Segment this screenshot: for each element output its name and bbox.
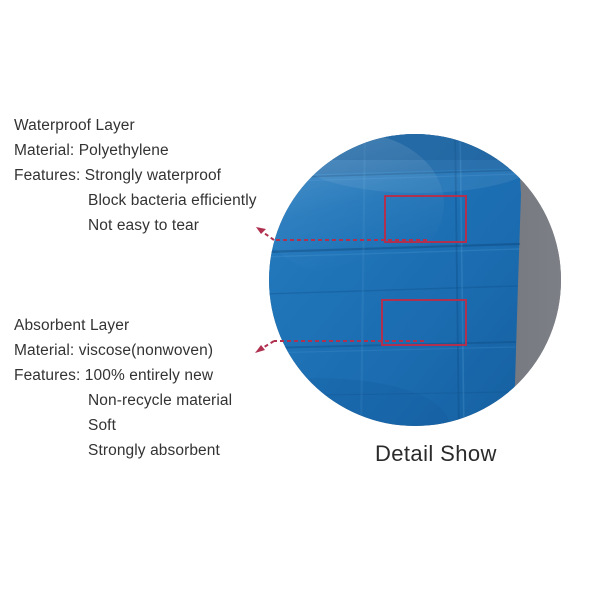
detail-show-caption: Detail Show (375, 441, 497, 467)
product-detail-infographic: Waterproof Layer Material: Polyethylene … (0, 0, 600, 600)
absorbent-layer-features-first: Features: 100% entirely new (14, 363, 232, 388)
absorbent-layer-spec-block: Absorbent Layer Material: viscose(nonwov… (14, 313, 232, 463)
absorbent-layer-feature-4: Strongly absorbent (14, 438, 232, 463)
absorbent-layer-feature-2: Non-recycle material (14, 388, 232, 413)
absorbent-layer-material: Material: viscose(nonwoven) (14, 338, 232, 363)
absorbent-layer-feature-3: Soft (14, 413, 232, 438)
waterproof-layer-features-first: Features: Strongly waterproof (14, 163, 257, 188)
waterproof-layer-feature-2: Block bacteria efficiently (14, 188, 257, 213)
fabric-closeup-image (269, 134, 561, 426)
waterproof-layer-feature-3: Not easy to tear (14, 213, 257, 238)
absorbent-layer-title: Absorbent Layer (14, 313, 232, 338)
waterproof-layer-title: Waterproof Layer (14, 113, 257, 138)
waterproof-layer-material: Material: Polyethylene (14, 138, 257, 163)
product-photo-circle (269, 134, 561, 426)
waterproof-layer-spec-block: Waterproof Layer Material: Polyethylene … (14, 113, 257, 238)
